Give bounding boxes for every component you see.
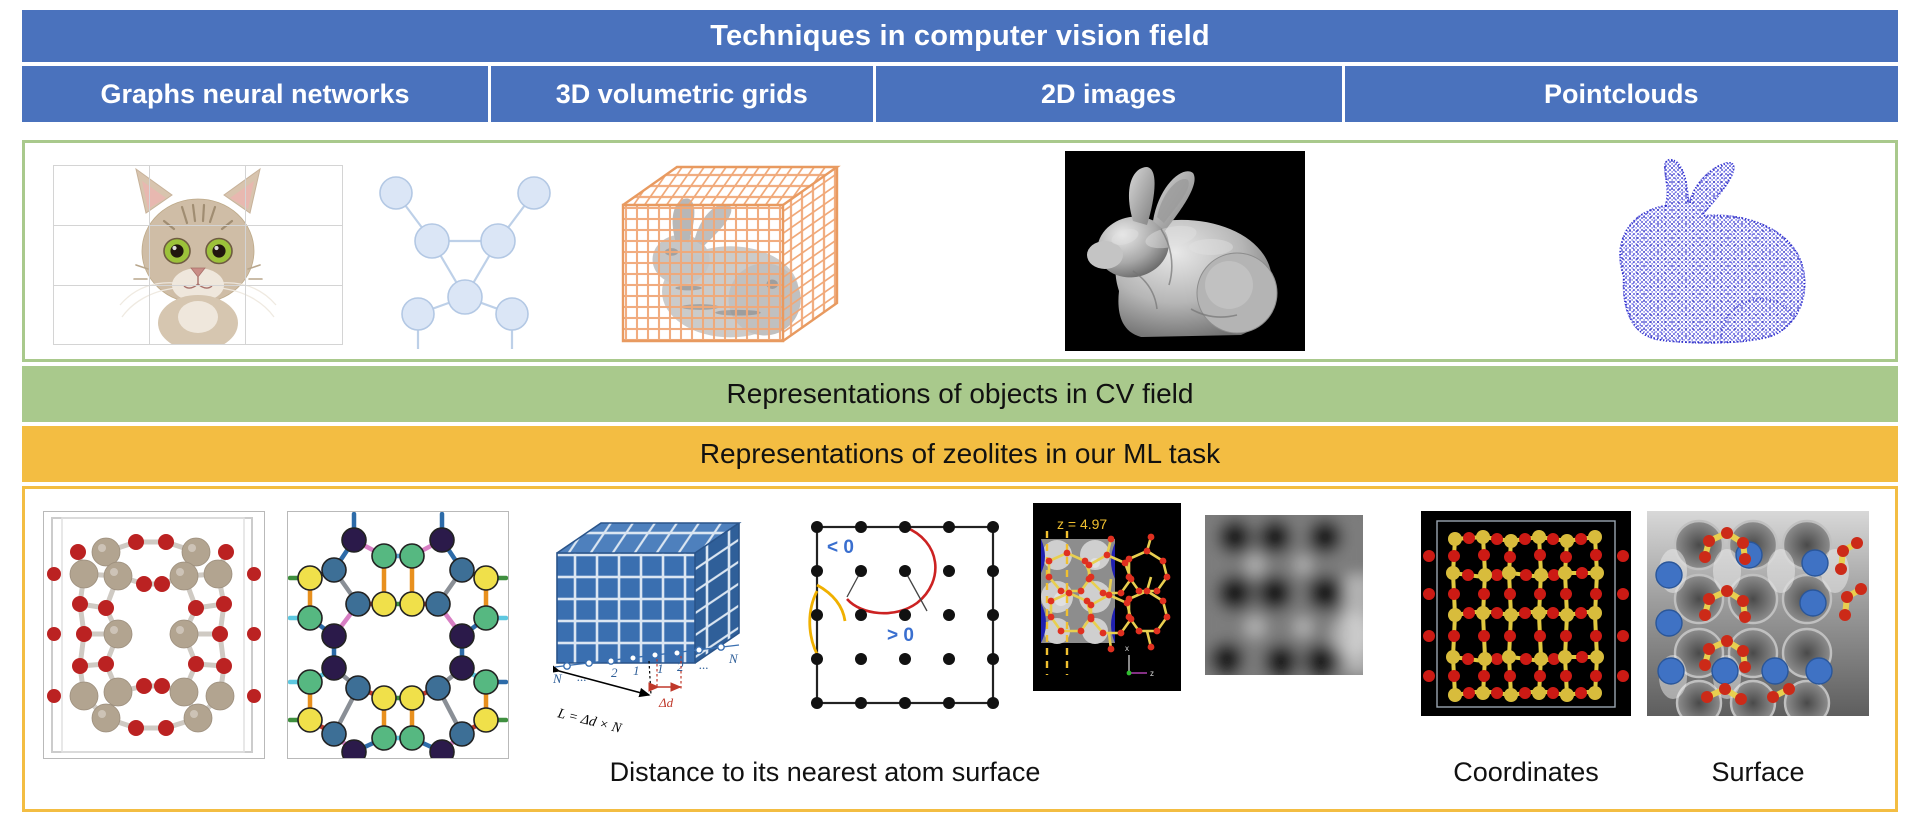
voxel-label-1-right: 1 <box>657 661 664 676</box>
header-col-label: Pointclouds <box>1544 79 1699 110</box>
voxel-label-n-left: N <box>553 671 563 686</box>
voxel-label-1-left: 1 <box>633 663 640 678</box>
signed-distance-grid: < 0 > 0 <box>795 511 1025 741</box>
zeolite-colored-graph <box>287 511 509 759</box>
mesh-bunny-render <box>1065 151 1305 351</box>
cat-grid-image <box>53 165 343 345</box>
header-col-label: 3D volumetric grids <box>556 79 808 110</box>
header-col-pointclouds: Pointclouds <box>1345 66 1898 122</box>
header-col-2d-images: 2D images <box>876 66 1345 122</box>
voxel-label-dots-right: ... <box>699 657 709 672</box>
caption-surface: Surface <box>1647 757 1869 788</box>
header-column-row: Graphs neural networks 3D volumetric gri… <box>22 66 1898 122</box>
zeolite-coordinates-render <box>1421 511 1631 716</box>
sdf-label-negative: < 0 <box>827 537 854 558</box>
voxel-label-spacing: Δd <box>658 695 674 710</box>
zeolite-slice-zvalue: z = 4.97 x z <box>1033 503 1181 691</box>
figure-root: Techniques in computer vision field Grap… <box>0 0 1920 828</box>
slice-label-z-value: z = 4.97 <box>1057 516 1107 532</box>
header-col-graphs-neural-networks: Graphs neural networks <box>22 66 491 122</box>
banner-cv-label: Representations of objects in CV field <box>727 378 1194 410</box>
voxel-label-2-left: 2 <box>611 665 618 680</box>
cv-representations-row <box>22 140 1898 362</box>
pointcloud-bunny <box>1565 149 1835 354</box>
voxel-cube-diagram: N ... 2 1 1 2 ... N L = Δd × N <box>553 511 783 741</box>
zeolite-representations-row: N ... 2 1 1 2 ... N L = Δd × N <box>22 486 1898 812</box>
caption-coordinates: Coordinates <box>1421 757 1631 788</box>
image-grid-overlay <box>53 165 343 345</box>
header-col-label: 2D images <box>1041 79 1176 110</box>
voxel-label-length-formula: L = Δd × N <box>555 706 623 737</box>
banner-ml-label: Representations of zeolites in our ML ta… <box>700 438 1220 470</box>
header-col-label: Graphs neural networks <box>100 79 409 110</box>
voxel-grid-bunny <box>615 153 845 353</box>
sdf-label-positive: > 0 <box>887 625 914 646</box>
banner-cv-representations: Representations of objects in CV field <box>22 366 1898 422</box>
slice-axis-z-label: z <box>1150 669 1154 678</box>
banner-ml-representations: Representations of zeolites in our ML ta… <box>22 426 1898 482</box>
voxel-label-n-right: N <box>728 651 739 666</box>
header-col-3d-volumetric-grids: 3D volumetric grids <box>491 66 876 122</box>
graph-network-diagram <box>370 157 560 353</box>
page-title: Techniques in computer vision field <box>22 10 1898 62</box>
caption-distance: Distance to its nearest atom surface <box>525 757 1125 788</box>
zeolite-ball-and-stick <box>43 511 265 759</box>
zeolite-surface-render <box>1647 511 1869 716</box>
grayscale-distance-map <box>1205 515 1363 675</box>
slice-axis-x-label: x <box>1125 644 1129 653</box>
